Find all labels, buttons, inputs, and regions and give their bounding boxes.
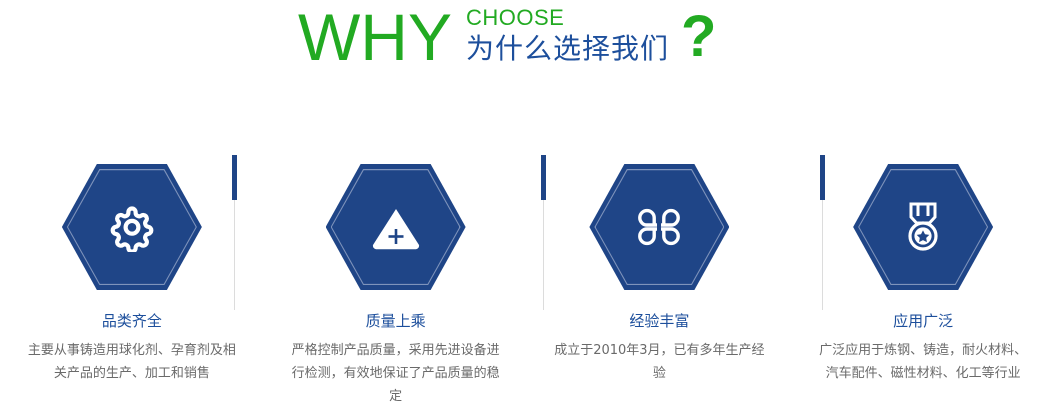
header-question-mark: ?: [681, 8, 716, 72]
card-description: 主要从事铸造用球化剂、孕育剂及相关产品的生产、加工和销售: [24, 339, 239, 385]
medal-icon: [853, 164, 993, 290]
header-chinese-title: 为什么选择我们: [466, 32, 669, 66]
feature-card[interactable]: 应用广泛 广泛应用于炼钢、铸造，耐火材料、汽车配件、磁性材料、化工等行业: [791, 150, 1055, 416]
section-header: WHY CHOOSE 为什么选择我们 ?: [0, 0, 1055, 95]
feature-cards-row: 品类齐全 主要从事铸造用球化剂、孕育剂及相关产品的生产、加工和销售 质量上乘 严…: [0, 150, 1055, 416]
card-description: 严格控制产品质量，采用先进设备进行检测，有效地保证了产品质量的稳定: [288, 339, 503, 408]
card-title: 应用广泛: [893, 312, 953, 330]
card-title: 经验丰富: [629, 312, 689, 330]
card-title: 品类齐全: [102, 312, 162, 330]
feature-card[interactable]: 品类齐全 主要从事铸造用球化剂、孕育剂及相关产品的生产、加工和销售: [0, 150, 264, 416]
hexagon-badge: [853, 164, 993, 290]
header-why-word: WHY: [298, 2, 452, 72]
feature-card[interactable]: 经验丰富 成立于2010年3月，已有多年生产经验: [528, 150, 792, 416]
hexagon-badge: [62, 164, 202, 290]
feature-card[interactable]: 质量上乘 严格控制产品质量，采用先进设备进行检测，有效地保证了产品质量的稳定: [264, 150, 528, 416]
header-text-stack: CHOOSE 为什么选择我们: [466, 2, 669, 66]
hexagon-badge: [589, 164, 729, 290]
card-description: 广泛应用于炼钢、铸造，耐火材料、汽车配件、磁性材料、化工等行业: [816, 339, 1031, 385]
gear-icon: [62, 164, 202, 290]
card-title: 质量上乘: [366, 312, 426, 330]
card-description: 成立于2010年3月，已有多年生产经验: [552, 339, 767, 385]
clover-icon: [589, 164, 729, 290]
header-choose-word: CHOOSE: [466, 6, 669, 30]
hexagon-badge: [326, 164, 466, 290]
header-title-group: WHY CHOOSE 为什么选择我们 ?: [298, 2, 716, 72]
triangle-plus-icon: [326, 164, 466, 290]
